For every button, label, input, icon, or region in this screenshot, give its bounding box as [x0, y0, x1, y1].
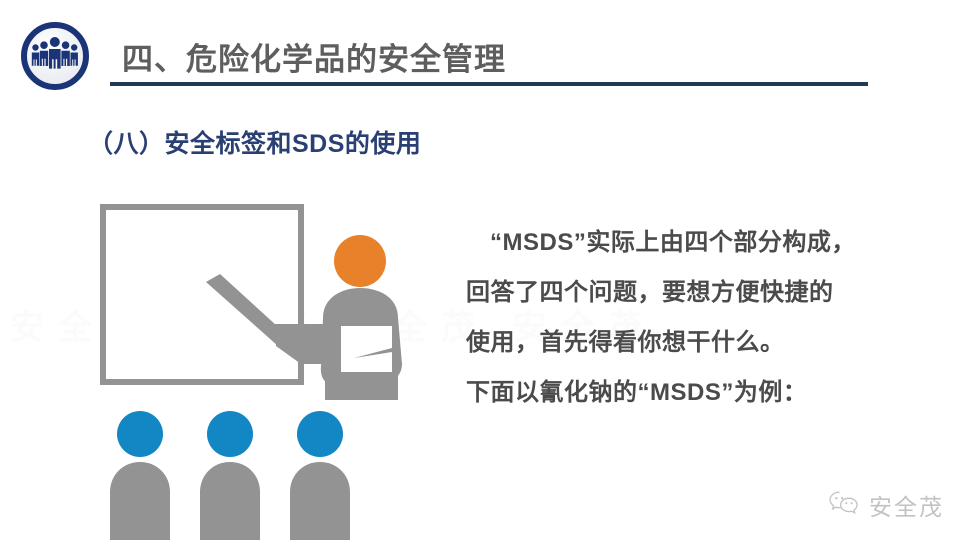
body-line: 回答了四个问题，要想方便快捷的	[466, 268, 936, 318]
classroom-presentation-illustration	[92, 196, 432, 540]
header-divider	[110, 82, 868, 86]
section-subtitle: （八）安全标签和SDS的使用	[88, 124, 421, 160]
audience-member	[110, 411, 170, 540]
audience-member	[290, 411, 350, 540]
body-line: 使用，首先得看你想干什么。	[466, 318, 936, 368]
body-line: “MSDS”实际上由四个部分构成，	[466, 218, 936, 268]
presenter-head	[334, 235, 386, 287]
page-title: 四、危险化学品的安全管理	[122, 34, 506, 79]
slide-canvas: 四、危险化学品的安全管理 （八）安全标签和SDS的使用 安全茂 安全茂 安全茂 …	[0, 0, 960, 540]
whiteboard-icon	[103, 207, 301, 382]
brand-watermark-label: 安全茂	[869, 488, 944, 522]
people-group-circle-icon	[20, 21, 90, 91]
audience-member	[200, 411, 260, 540]
wechat-icon	[828, 490, 860, 521]
brand-watermark: 安全茂	[828, 488, 944, 522]
presenter-notch	[341, 326, 392, 372]
body-paragraph: “MSDS”实际上由四个部分构成， 回答了四个问题，要想方便快捷的 使用，首先得…	[466, 218, 936, 418]
body-line: 下面以氰化钠的“MSDS”为例：	[466, 368, 936, 418]
audience-group	[110, 411, 350, 540]
